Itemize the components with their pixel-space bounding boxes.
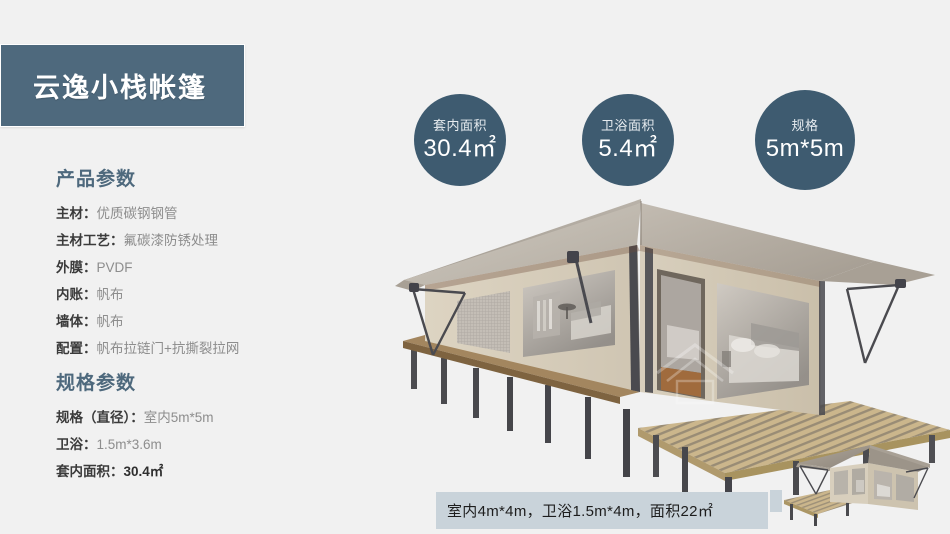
spec-row: 规格（直径）：室内5m*5m: [56, 404, 214, 431]
stat-circle-value: 5m*5m: [766, 137, 845, 161]
spec-label: 套内面积：: [56, 464, 124, 479]
stat-circle-bathroom-area: 卫浴面积 5.4㎡: [582, 94, 674, 186]
spec-row: 外膜：PVDF: [56, 254, 239, 281]
size-parameters-block: 规格参数 规格（直径）：室内5m*5m 卫浴：1.5m*3.6m 套内面积：30…: [56, 368, 214, 485]
spec-row: 配置：帆布拉链门+抗撕裂拉网: [56, 335, 239, 362]
spec-row: 卫浴：1.5m*3.6m: [56, 431, 214, 458]
spec-value: 帆布拉链门+抗撕裂拉网: [97, 341, 240, 356]
spec-value: PVDF: [97, 260, 133, 275]
product-parameters-heading: 产品参数: [56, 164, 239, 191]
image-caption-text: 室内4m*4m，卫浴1.5m*4m，面积22㎡: [447, 500, 713, 521]
size-parameters-heading: 规格参数: [56, 368, 214, 395]
page-title: 云逸小栈帐篷: [33, 66, 207, 105]
spec-label: 墙体：: [56, 314, 97, 329]
product-parameters-block: 产品参数 主材：优质碳钢钢管 主材工艺：氟碳漆防锈处理 外膜：PVDF 内账：帆…: [56, 164, 239, 362]
spec-value: 1.5m*3.6m: [97, 437, 162, 452]
spec-row: 套内面积：30.4㎡: [56, 458, 214, 485]
stat-circle-value: 5.4㎡: [598, 137, 657, 161]
spec-row: 墙体：帆布: [56, 308, 239, 335]
spec-value: 氟碳漆防锈处理: [124, 233, 219, 248]
stat-circle-interior-area: 套内面积 30.4㎡: [414, 94, 506, 186]
spec-label: 卫浴：: [56, 437, 97, 452]
stat-circle-value: 30.4㎡: [423, 137, 496, 161]
spec-row: 主材：优质碳钢钢管: [56, 200, 239, 227]
tent-thumbnail-inset: [770, 442, 945, 527]
spec-value: 室内5m*5m: [144, 410, 214, 425]
title-banner: 云逸小栈帐篷: [0, 44, 245, 127]
spec-row: 主材工艺：氟碳漆防锈处理: [56, 227, 239, 254]
spec-value: 帆布: [97, 314, 124, 329]
spec-value: 帆布: [97, 287, 124, 302]
spec-value: 优质碳钢钢管: [97, 206, 178, 221]
stat-circle-dimensions: 规格 5m*5m: [755, 90, 855, 190]
spec-label: 外膜：: [56, 260, 97, 275]
spec-label: 规格（直径）：: [56, 410, 144, 425]
spec-label: 配置：: [56, 341, 97, 356]
spec-row: 内账：帆布: [56, 281, 239, 308]
stat-circle-label: 规格: [791, 119, 818, 132]
product-spec-page: 云逸小栈帐篷 产品参数 主材：优质碳钢钢管 主材工艺：氟碳漆防锈处理 外膜：PV…: [0, 0, 950, 534]
stat-circle-label: 套内面积: [433, 119, 487, 132]
image-caption-band: 室内4m*4m，卫浴1.5m*4m，面积22㎡: [436, 492, 768, 529]
stat-circle-label: 卫浴面积: [601, 119, 655, 132]
spec-label: 内账：: [56, 287, 97, 302]
spec-label: 主材：: [56, 206, 97, 221]
spec-value: 30.4㎡: [124, 464, 164, 479]
spec-label: 主材工艺：: [56, 233, 124, 248]
